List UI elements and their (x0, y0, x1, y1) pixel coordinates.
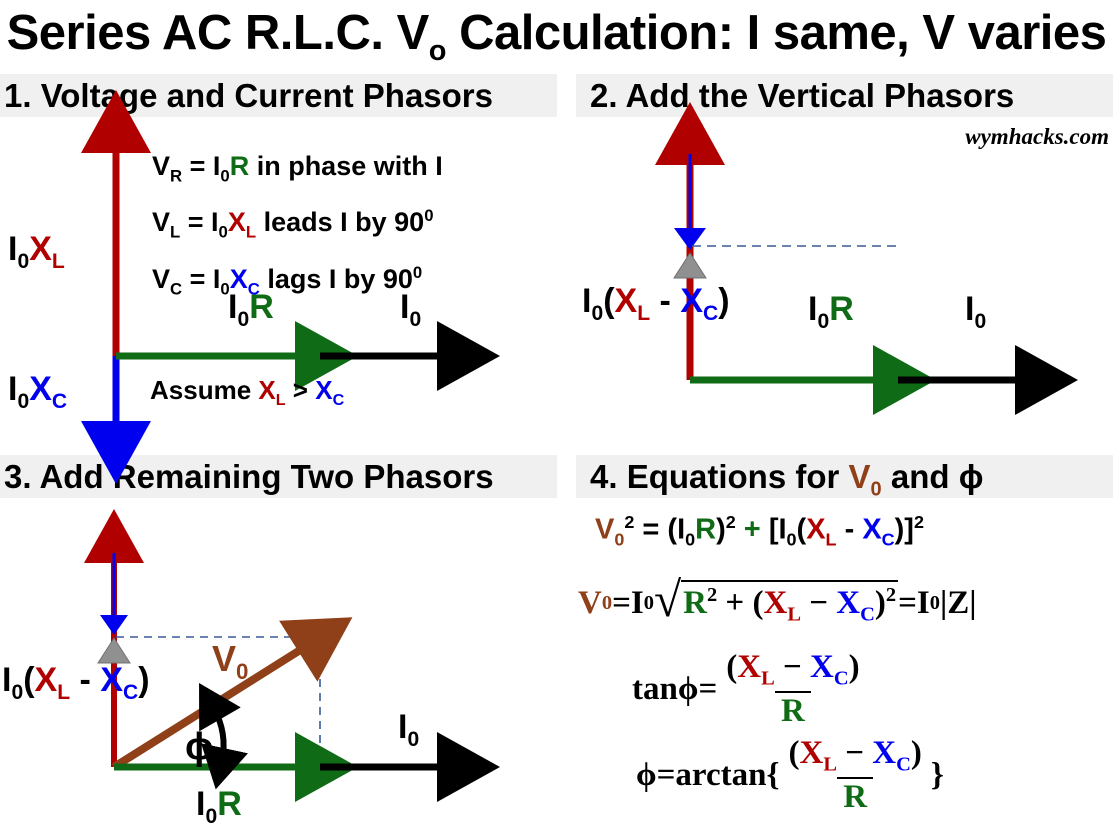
phasor-net-arrowhead (674, 253, 706, 278)
panel-4-heading-v-sub: 0 (871, 479, 882, 498)
equation-V0-squared: V02 = (I0R)2 + [I0(XL - XC)]2 (595, 512, 924, 550)
equation-tan-phi: tan ϕ = (XL − XC)R (632, 650, 869, 729)
panel-1-line-1: VR = I0R in phase with I (152, 146, 443, 196)
panel-2-label-IoXL-minus-XC: I0(XL - XC) (582, 282, 730, 326)
panel-2-label-IoR: I0R (808, 290, 854, 334)
fraction-arctan: (XL − XC)R (782, 736, 927, 815)
panel-3-label-V0: V0 (212, 638, 248, 685)
phasor-IoXC-arrowhead (100, 615, 128, 635)
panel-3-label-IoXL-minus-XC: I0(XL - XC) (2, 661, 150, 705)
panel-4-heading-post: and (882, 458, 959, 495)
panel-1-line-2: VL = I0XL leads I by 900 (152, 196, 443, 252)
panel-4-heading-v: V (849, 458, 871, 495)
phasor-IoXC-arrowhead (674, 228, 706, 250)
panel-4-heading: 4. Equations for V0 and ϕ (576, 455, 1113, 498)
equation-V0-magnitude: V0 = I0√R2 + (XL − XC)2 = I0|Z| (578, 580, 977, 627)
panel-3-label-phi: ϕ (185, 726, 213, 769)
panel-2-label-Io: I0 (965, 290, 986, 334)
panel-1-label-IoXC: I0XC (8, 370, 67, 414)
phasor-net-arrowhead (98, 638, 130, 663)
panel-1-label-IoXL: I0XL (8, 230, 65, 274)
panel-1-assumption: Assume XL > XC (150, 375, 344, 410)
fraction-tan-phi: (XL − XC)R (720, 650, 865, 729)
equation-phi-arctan: ϕ = arctan {(XL − XC)R} (636, 736, 944, 815)
title-post: Calculation: I same, V varies (446, 6, 1106, 60)
panel-4-heading-pre: 4. Equations for (590, 458, 849, 495)
square-root-group: √R2 + (XL − XC)2 (654, 580, 898, 627)
page-title: Series AC R.L.C. Vo Calculation: I same,… (0, 2, 1113, 64)
title-subscript: o (429, 35, 446, 67)
panel-3-label-Io: I0 (398, 708, 419, 752)
panel-1-label-Io: I0 (400, 288, 421, 332)
panel-3-label-IoR: I0R (196, 785, 242, 829)
panel-3-heading: 3. Add Remaining Two Phasors (0, 455, 557, 498)
phi-angle-arc (214, 709, 224, 760)
title-pre: Series AC R.L.C. V (7, 6, 429, 60)
panel-1-label-IoR: I0R (228, 288, 274, 332)
poster-root: Series AC R.L.C. Vo Calculation: I same,… (0, 0, 1113, 840)
panel-1-description: VR = I0R in phase with I VL = I0XL leads… (152, 146, 443, 309)
panel-4-heading-phi: ϕ (959, 458, 984, 495)
